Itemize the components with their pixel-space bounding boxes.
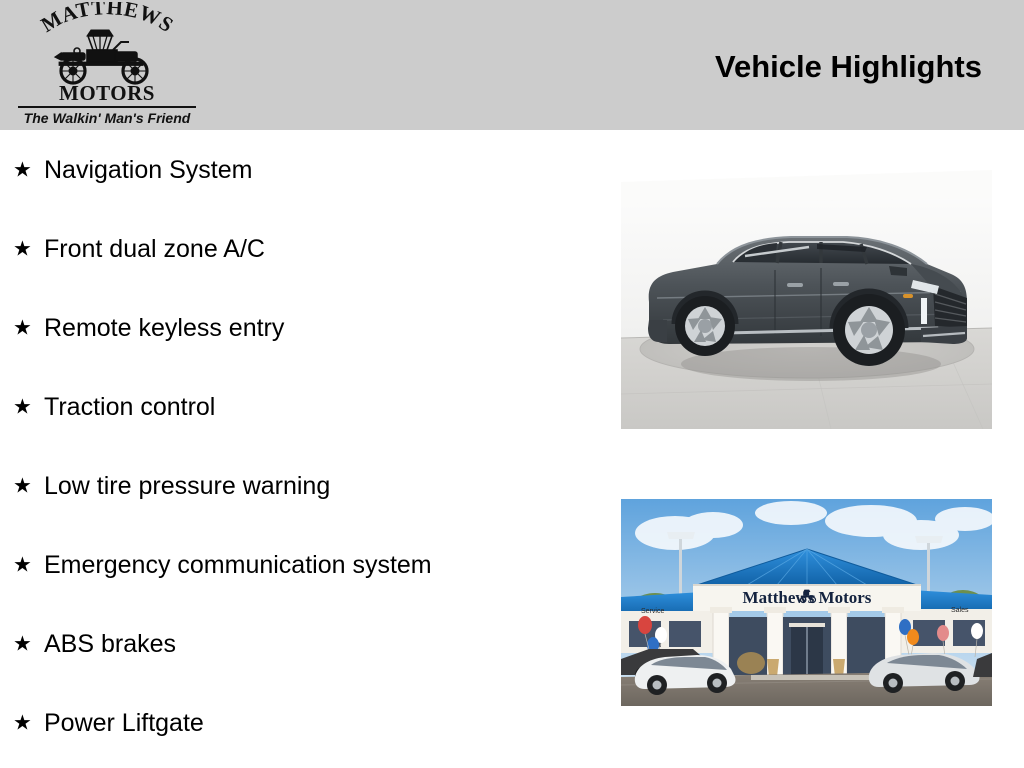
feature-label: Front dual zone A/C — [44, 234, 265, 264]
feature-label: Navigation System — [44, 155, 252, 185]
feature-label: Remote keyless entry — [44, 313, 284, 343]
slide-body: ★ Navigation System ★ Front dual zone A/… — [0, 130, 1024, 768]
dealership-photo: Service Sales Matthews Motors — [621, 499, 992, 706]
star-bullet-icon: ★ — [13, 633, 32, 654]
star-bullet-icon: ★ — [13, 396, 32, 417]
star-bullet-icon: ★ — [13, 554, 32, 575]
vehicle-photo-graphic — [621, 152, 992, 429]
feature-label: ABS brakes — [44, 629, 176, 659]
page-title: Vehicle Highlights — [715, 48, 982, 86]
star-bullet-icon: ★ — [13, 475, 32, 496]
list-item: ★ Traction control — [0, 367, 600, 446]
dealer-logo: MATTHEWS — [14, 2, 200, 128]
logo-divider — [18, 106, 196, 108]
feature-label: Power Liftgate — [44, 708, 204, 738]
list-item: ★ ABS brakes — [0, 604, 600, 683]
star-bullet-icon: ★ — [13, 317, 32, 338]
list-item: ★ Front dual zone A/C — [0, 209, 600, 288]
list-item: ★ Remote keyless entry — [0, 288, 600, 367]
logo-wordmark: MOTORS — [14, 82, 200, 104]
star-bullet-icon: ★ — [13, 238, 32, 259]
feature-label: Low tire pressure warning — [44, 471, 330, 501]
logo-tagline: The Walkin' Man's Friend — [14, 109, 200, 127]
vehicle-feature-list: ★ Navigation System ★ Front dual zone A/… — [0, 130, 600, 762]
list-item: ★ Power Liftgate — [0, 683, 600, 762]
dealership-photo-graphic: Service Sales Matthews Motors — [621, 499, 992, 706]
feature-label: Traction control — [44, 392, 215, 422]
list-item: ★ Navigation System — [0, 130, 600, 209]
sales-sign-label: Sales — [951, 607, 969, 614]
vehicle-photo — [621, 152, 992, 429]
list-item: ★ Emergency communication system — [0, 525, 600, 604]
antique-car-icon — [47, 26, 167, 86]
slide-header: MATTHEWS — [0, 0, 1024, 130]
feature-label: Emergency communication system — [44, 550, 432, 580]
service-sign-label: Service — [641, 608, 664, 615]
star-bullet-icon: ★ — [13, 159, 32, 180]
star-bullet-icon: ★ — [13, 712, 32, 733]
list-item: ★ Low tire pressure warning — [0, 446, 600, 525]
